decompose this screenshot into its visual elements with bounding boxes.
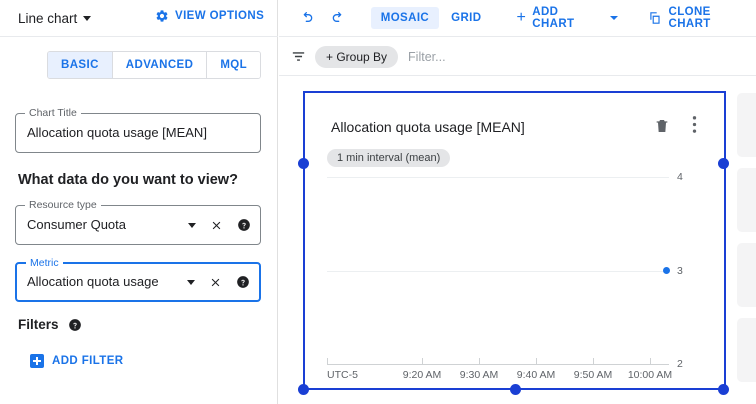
x-tick-label-2: 9:30 AM — [460, 369, 499, 381]
dashboard-toolbar: MOSAIC GRID + ADD CHART CLONE CHART — [279, 0, 756, 37]
tab-mql-label: MQL — [220, 59, 247, 71]
resize-handle-bottom-center[interactable] — [510, 384, 521, 395]
x-tick-mark-1 — [422, 358, 423, 364]
adjacent-chart-placeholder-4[interactable] — [737, 318, 756, 382]
add-filter-label: ADD FILTER — [52, 355, 124, 367]
x-tick-mark-2 — [479, 358, 480, 364]
x-tick-label-timezone: UTC-5 — [327, 369, 358, 381]
x-tick-label-3: 9:40 AM — [517, 369, 556, 381]
metric-actions — [187, 264, 250, 300]
x-tick-mark-5 — [650, 358, 651, 364]
group-by-label: + Group By — [326, 50, 387, 64]
resource-type-value: Consumer Quota — [27, 217, 126, 232]
add-filter-button[interactable]: ADD FILTER — [30, 354, 124, 368]
gridline-4 — [327, 177, 669, 178]
filters-help-button[interactable] — [68, 318, 82, 332]
metric-value: Allocation quota usage — [27, 274, 159, 289]
add-chart-label: ADD CHART — [532, 6, 603, 30]
metric-dropdown-arrow[interactable] — [187, 280, 195, 285]
chart-card[interactable]: Allocation quota usage [MEAN] 1 min inte… — [303, 91, 726, 390]
x-tick-label-4: 9:50 AM — [574, 369, 613, 381]
y-tick-label-3: 3 — [677, 265, 683, 277]
group-by-chip[interactable]: + Group By — [315, 46, 398, 68]
help-icon — [237, 218, 251, 232]
chart-config-header: Line chart VIEW OPTIONS — [0, 0, 278, 37]
metric-field[interactable]: Metric Allocation quota usage — [15, 262, 261, 302]
x-tick-mark-0 — [327, 358, 328, 364]
adjacent-chart-placeholder-2[interactable] — [737, 168, 756, 232]
grid-view-button[interactable]: GRID — [441, 7, 491, 29]
redo-button[interactable] — [327, 7, 349, 29]
tab-basic-label: BASIC — [61, 59, 99, 71]
mosaic-view-button[interactable]: MOSAIC — [371, 7, 439, 29]
metric-clear-button[interactable] — [209, 276, 222, 289]
chart-plot-area[interactable]: 4 3 2 UTC-5 9:20 AM 9:30 AM 9:40 AM 9:50… — [319, 177, 714, 365]
plus-icon: + — [516, 10, 526, 26]
chart-options-menu-button[interactable] — [692, 115, 697, 139]
y-tick-label-4: 4 — [677, 171, 683, 183]
plus-icon — [30, 354, 44, 368]
tab-mql[interactable]: MQL — [207, 52, 260, 78]
y-tick-label-2: 2 — [677, 358, 683, 370]
x-axis-line — [327, 364, 669, 365]
config-tab-group: BASIC ADVANCED MQL — [47, 51, 261, 79]
data-question-heading: What data do you want to view? — [18, 172, 238, 188]
dashboard-panel: MOSAIC GRID + ADD CHART CLONE CHART — [279, 0, 756, 404]
chart-config-panel: Line chart VIEW OPTIONS BASIC ADVANCED M… — [0, 0, 278, 404]
trash-icon — [654, 117, 670, 135]
filter-input[interactable]: Filter... — [408, 50, 446, 64]
mosaic-label: MOSAIC — [381, 12, 429, 24]
filters-section-header: Filters — [18, 317, 82, 332]
chart-card-title: Allocation quota usage [MEAN] — [331, 119, 525, 135]
chart-type-dropdown[interactable]: Line chart — [18, 11, 91, 26]
chart-title-value: Allocation quota usage [MEAN] — [27, 125, 207, 140]
x-tick-mark-4 — [593, 358, 594, 364]
help-icon — [236, 275, 250, 289]
clone-chart-label: CLONE CHART — [668, 6, 756, 30]
undo-button[interactable] — [296, 7, 318, 29]
resource-type-actions — [188, 206, 251, 244]
resize-handle-left[interactable] — [298, 158, 309, 169]
filter-bar: + Group By Filter... — [279, 38, 756, 76]
redo-icon — [330, 10, 346, 26]
chart-title-legend: Chart Title — [25, 107, 81, 119]
chevron-down-icon — [610, 16, 618, 20]
resource-type-legend: Resource type — [25, 199, 101, 211]
clone-chart-button[interactable]: CLONE CHART — [648, 6, 756, 30]
gridline-3 — [327, 271, 669, 272]
tab-basic[interactable]: BASIC — [48, 52, 113, 78]
x-tick-label-5: 10:00 AM — [628, 369, 672, 381]
undo-icon — [299, 10, 315, 26]
gear-icon — [155, 9, 169, 23]
resize-handle-bottom-left[interactable] — [298, 384, 309, 395]
delete-chart-button[interactable] — [654, 117, 670, 140]
resource-type-field[interactable]: Resource type Consumer Quota — [15, 205, 261, 245]
resize-handle-right[interactable] — [718, 158, 729, 169]
resource-type-clear-button[interactable] — [210, 219, 223, 232]
chart-type-label: Line chart — [18, 11, 77, 26]
metric-legend: Metric — [26, 257, 63, 269]
resource-type-dropdown-arrow[interactable] — [188, 223, 196, 228]
filter-placeholder-label: Filter... — [408, 50, 446, 64]
grid-label: GRID — [451, 12, 481, 24]
add-chart-button[interactable]: + ADD CHART — [516, 6, 617, 30]
filter-icon — [290, 48, 307, 65]
help-icon — [68, 318, 82, 332]
metric-help-button[interactable] — [236, 275, 250, 289]
adjacent-chart-placeholder-3[interactable] — [737, 243, 756, 307]
chart-editor-screen: Line chart VIEW OPTIONS BASIC ADVANCED M… — [0, 0, 756, 404]
resource-type-help-button[interactable] — [237, 218, 251, 232]
more-vert-icon — [692, 115, 697, 134]
adjacent-chart-placeholder-1[interactable] — [737, 93, 756, 157]
filter-list-icon[interactable] — [289, 48, 307, 66]
view-options-label: VIEW OPTIONS — [175, 10, 264, 22]
chevron-down-icon — [83, 16, 91, 21]
series-data-point[interactable] — [663, 267, 670, 274]
resize-handle-bottom-right[interactable] — [718, 384, 729, 395]
chevron-down-icon — [187, 280, 195, 285]
close-icon — [209, 276, 222, 289]
chart-title-field[interactable]: Chart Title Allocation quota usage [MEAN… — [15, 113, 261, 153]
tab-advanced[interactable]: ADVANCED — [113, 52, 208, 78]
view-options-button[interactable]: VIEW OPTIONS — [155, 9, 264, 23]
x-tick-label-1: 9:20 AM — [403, 369, 442, 381]
close-icon — [210, 219, 223, 232]
interval-chip: 1 min interval (mean) — [327, 149, 450, 167]
chevron-down-icon — [188, 223, 196, 228]
filters-label: Filters — [18, 317, 59, 332]
tab-advanced-label: ADVANCED — [126, 59, 194, 71]
x-tick-mark-3 — [536, 358, 537, 364]
copy-icon — [648, 11, 662, 25]
